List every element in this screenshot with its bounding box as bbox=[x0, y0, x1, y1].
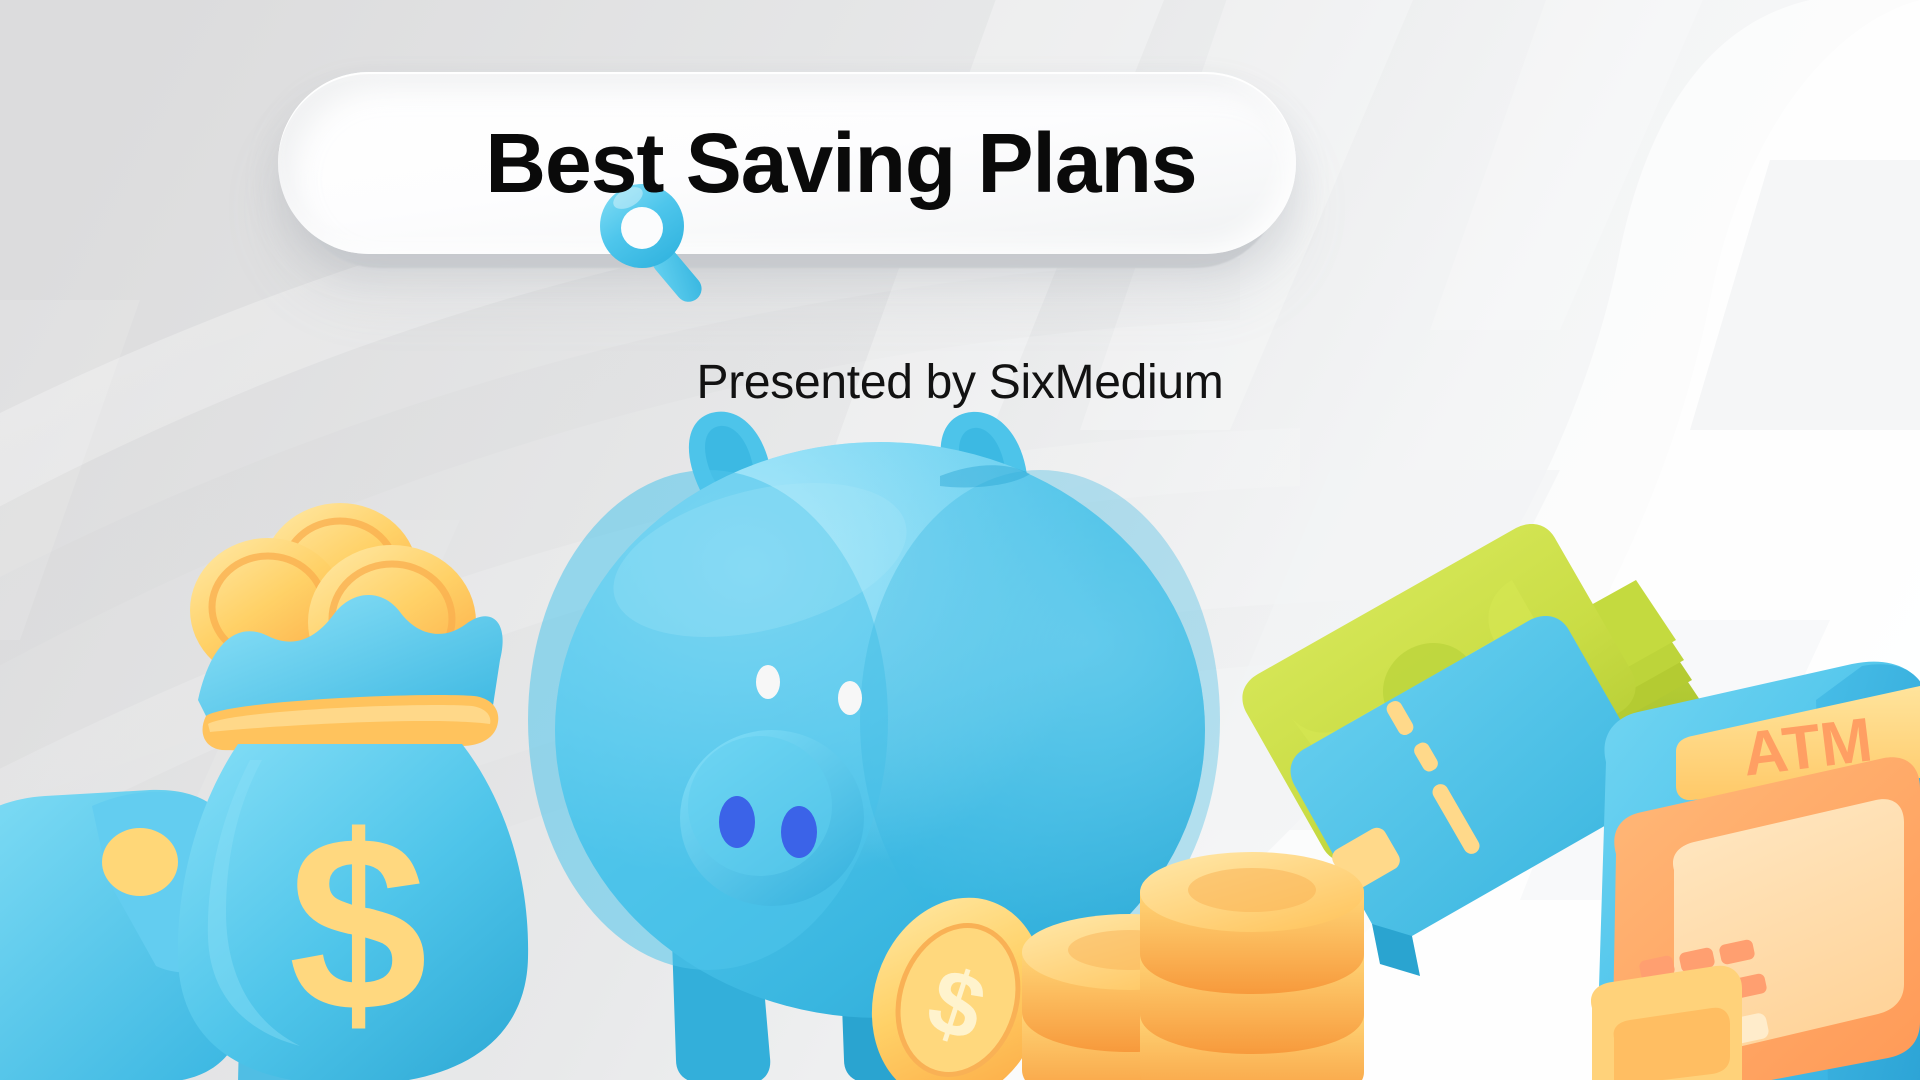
illustration-group: $ bbox=[0, 0, 1920, 1080]
money-bag: $ bbox=[178, 595, 528, 1080]
atm-machine: ATM bbox=[1591, 662, 1920, 1080]
poster-canvas: Best Saving Plans Presented by SixMedium bbox=[0, 0, 1920, 1080]
money-bag-symbol: $ bbox=[288, 784, 427, 1063]
coin-stack-right bbox=[1140, 852, 1364, 1080]
